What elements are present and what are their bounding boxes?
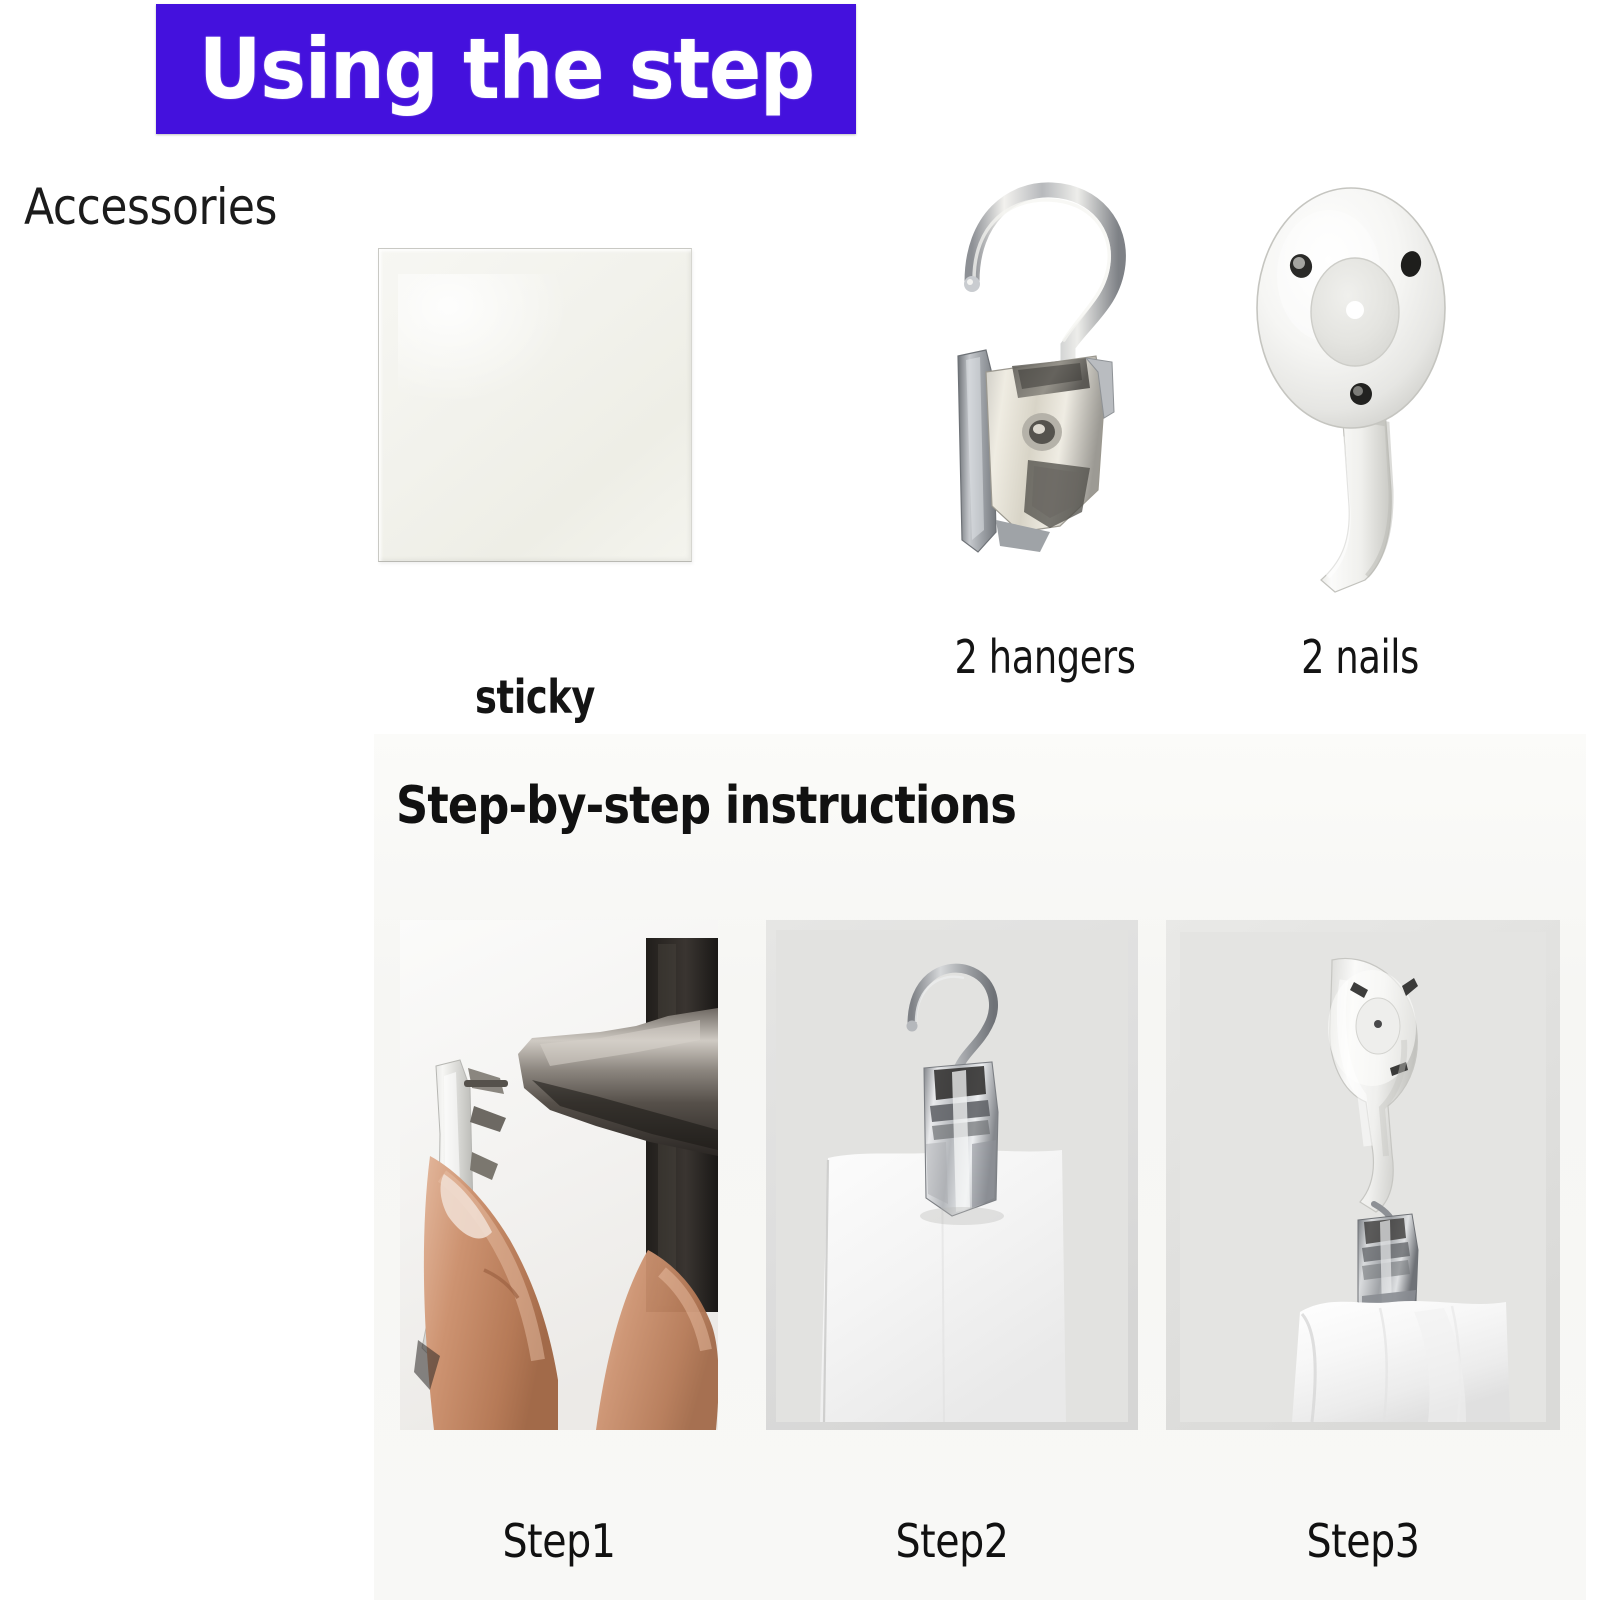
step-label-2: Step2 bbox=[792, 1514, 1112, 1568]
accessory-label-nails: 2 nails bbox=[1244, 630, 1476, 684]
step-photo-3 bbox=[1166, 920, 1560, 1430]
accessory-item-hangers: 2 hangers bbox=[900, 160, 1190, 640]
step-photo-2 bbox=[766, 920, 1138, 1430]
accessory-label-sticky: sticky bbox=[371, 670, 699, 724]
instructions-panel: Step-by-step instructions bbox=[374, 734, 1586, 1600]
step-photo-1 bbox=[400, 920, 718, 1430]
step-label-1: Step1 bbox=[422, 1514, 695, 1568]
accessory-label-hangers: 2 hangers bbox=[929, 630, 1161, 684]
white-wall-hook-icon bbox=[1215, 160, 1505, 620]
accessory-item-nails: 2 nails bbox=[1215, 160, 1505, 640]
sticky-pad-square-icon bbox=[378, 248, 692, 562]
metal-clip-hanger-icon bbox=[900, 160, 1190, 620]
instructions-heading: Step-by-step instructions bbox=[396, 776, 1016, 836]
page-title-banner: Using the step bbox=[156, 4, 856, 134]
accessories-row: sticky bbox=[0, 150, 1600, 680]
page-title: Using the step bbox=[198, 27, 813, 111]
step-label-3: Step3 bbox=[1194, 1514, 1533, 1568]
accessory-item-sticky: sticky bbox=[330, 230, 740, 630]
